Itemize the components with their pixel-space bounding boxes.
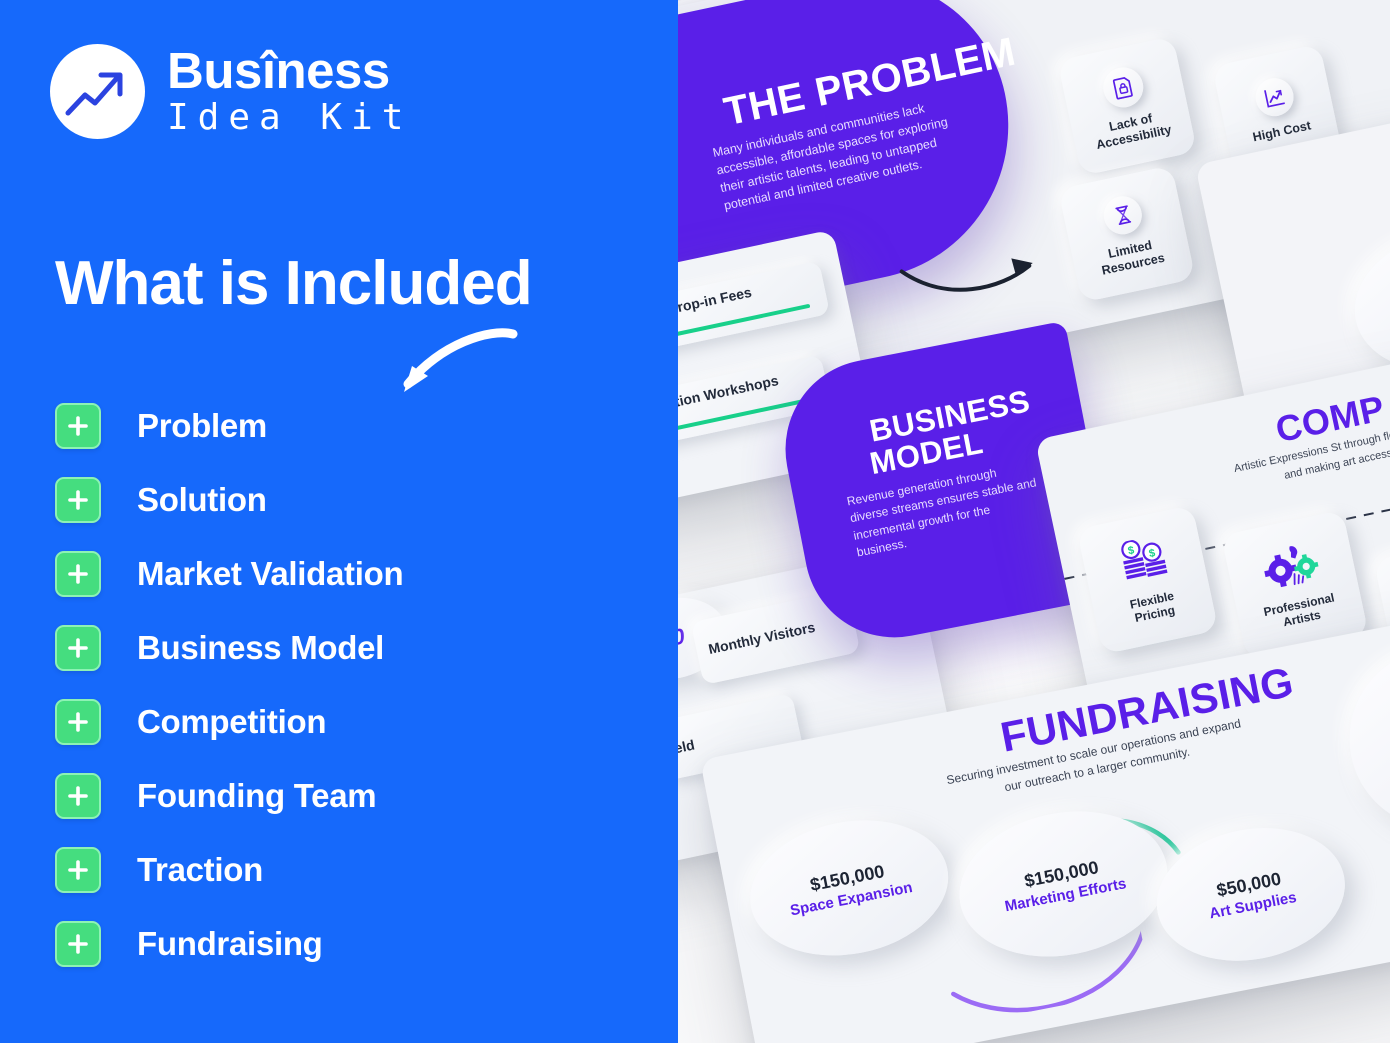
- growth-chart-arrow-icon: [50, 44, 145, 139]
- hourglass-icon: [1100, 193, 1145, 238]
- list-item[interactable]: Fundraising: [55, 907, 615, 981]
- plus-icon: [55, 921, 101, 967]
- list-item-label: Solution: [137, 481, 267, 519]
- page-title: What is Included: [55, 248, 532, 319]
- list-item-label: Traction: [137, 851, 263, 889]
- brand-wordmark: Busîness Idea Kit: [167, 46, 412, 138]
- fundraising-decor-ring: [1334, 633, 1390, 844]
- competition-card-label: Flexible Pricing: [1114, 586, 1192, 628]
- gears-idea-icon: [1257, 539, 1325, 597]
- left-info-panel: Busîness Idea Kit What is Included Probl…: [0, 0, 678, 1043]
- plus-icon: [55, 847, 101, 893]
- locked-document-icon: [1100, 64, 1147, 111]
- list-item-label: Problem: [137, 407, 267, 445]
- problem-card-label: Lack of Accessibility: [1082, 106, 1182, 154]
- list-item[interactable]: Problem: [55, 389, 615, 463]
- list-item[interactable]: Founding Team: [55, 759, 615, 833]
- plus-icon: [55, 625, 101, 671]
- problem-card-accessibility[interactable]: Lack of Accessibility: [1057, 36, 1197, 176]
- plus-icon: [55, 477, 101, 523]
- money-stack-icon: $ $: [1113, 533, 1174, 592]
- plus-icon: [55, 551, 101, 597]
- brand-name-bottom: Idea Kit: [167, 98, 412, 138]
- list-item[interactable]: Business Model: [55, 611, 615, 685]
- competition-card-flexible-pricing[interactable]: $ $ Flexible Pricing: [1076, 505, 1218, 655]
- plus-icon: [55, 773, 101, 819]
- plus-icon: [55, 699, 101, 745]
- brand-logo: Busîness Idea Kit: [50, 44, 412, 139]
- list-item-label: Market Validation: [137, 555, 403, 593]
- list-item-label: Business Model: [137, 629, 384, 667]
- list-item-label: Founding Team: [137, 777, 376, 815]
- brand-name-top: Busîness: [167, 46, 412, 96]
- list-item[interactable]: Traction: [55, 833, 615, 907]
- list-item-label: Fundraising: [137, 925, 323, 963]
- line-chart-icon: [1252, 75, 1297, 120]
- list-item[interactable]: Market Validation: [55, 537, 615, 611]
- included-items-list: Problem Solution Market Validation Busin…: [55, 389, 615, 981]
- list-item[interactable]: Solution: [55, 463, 615, 537]
- problem-card-limited-resources[interactable]: Limited Resources: [1058, 165, 1196, 303]
- plus-icon: [55, 403, 101, 449]
- list-item[interactable]: Competition: [55, 685, 615, 759]
- solution-bubble[interactable]: Accessible Spaces: [1342, 217, 1390, 386]
- list-item-label: Competition: [137, 703, 326, 741]
- problem-card-label: Limited Resources: [1084, 233, 1180, 280]
